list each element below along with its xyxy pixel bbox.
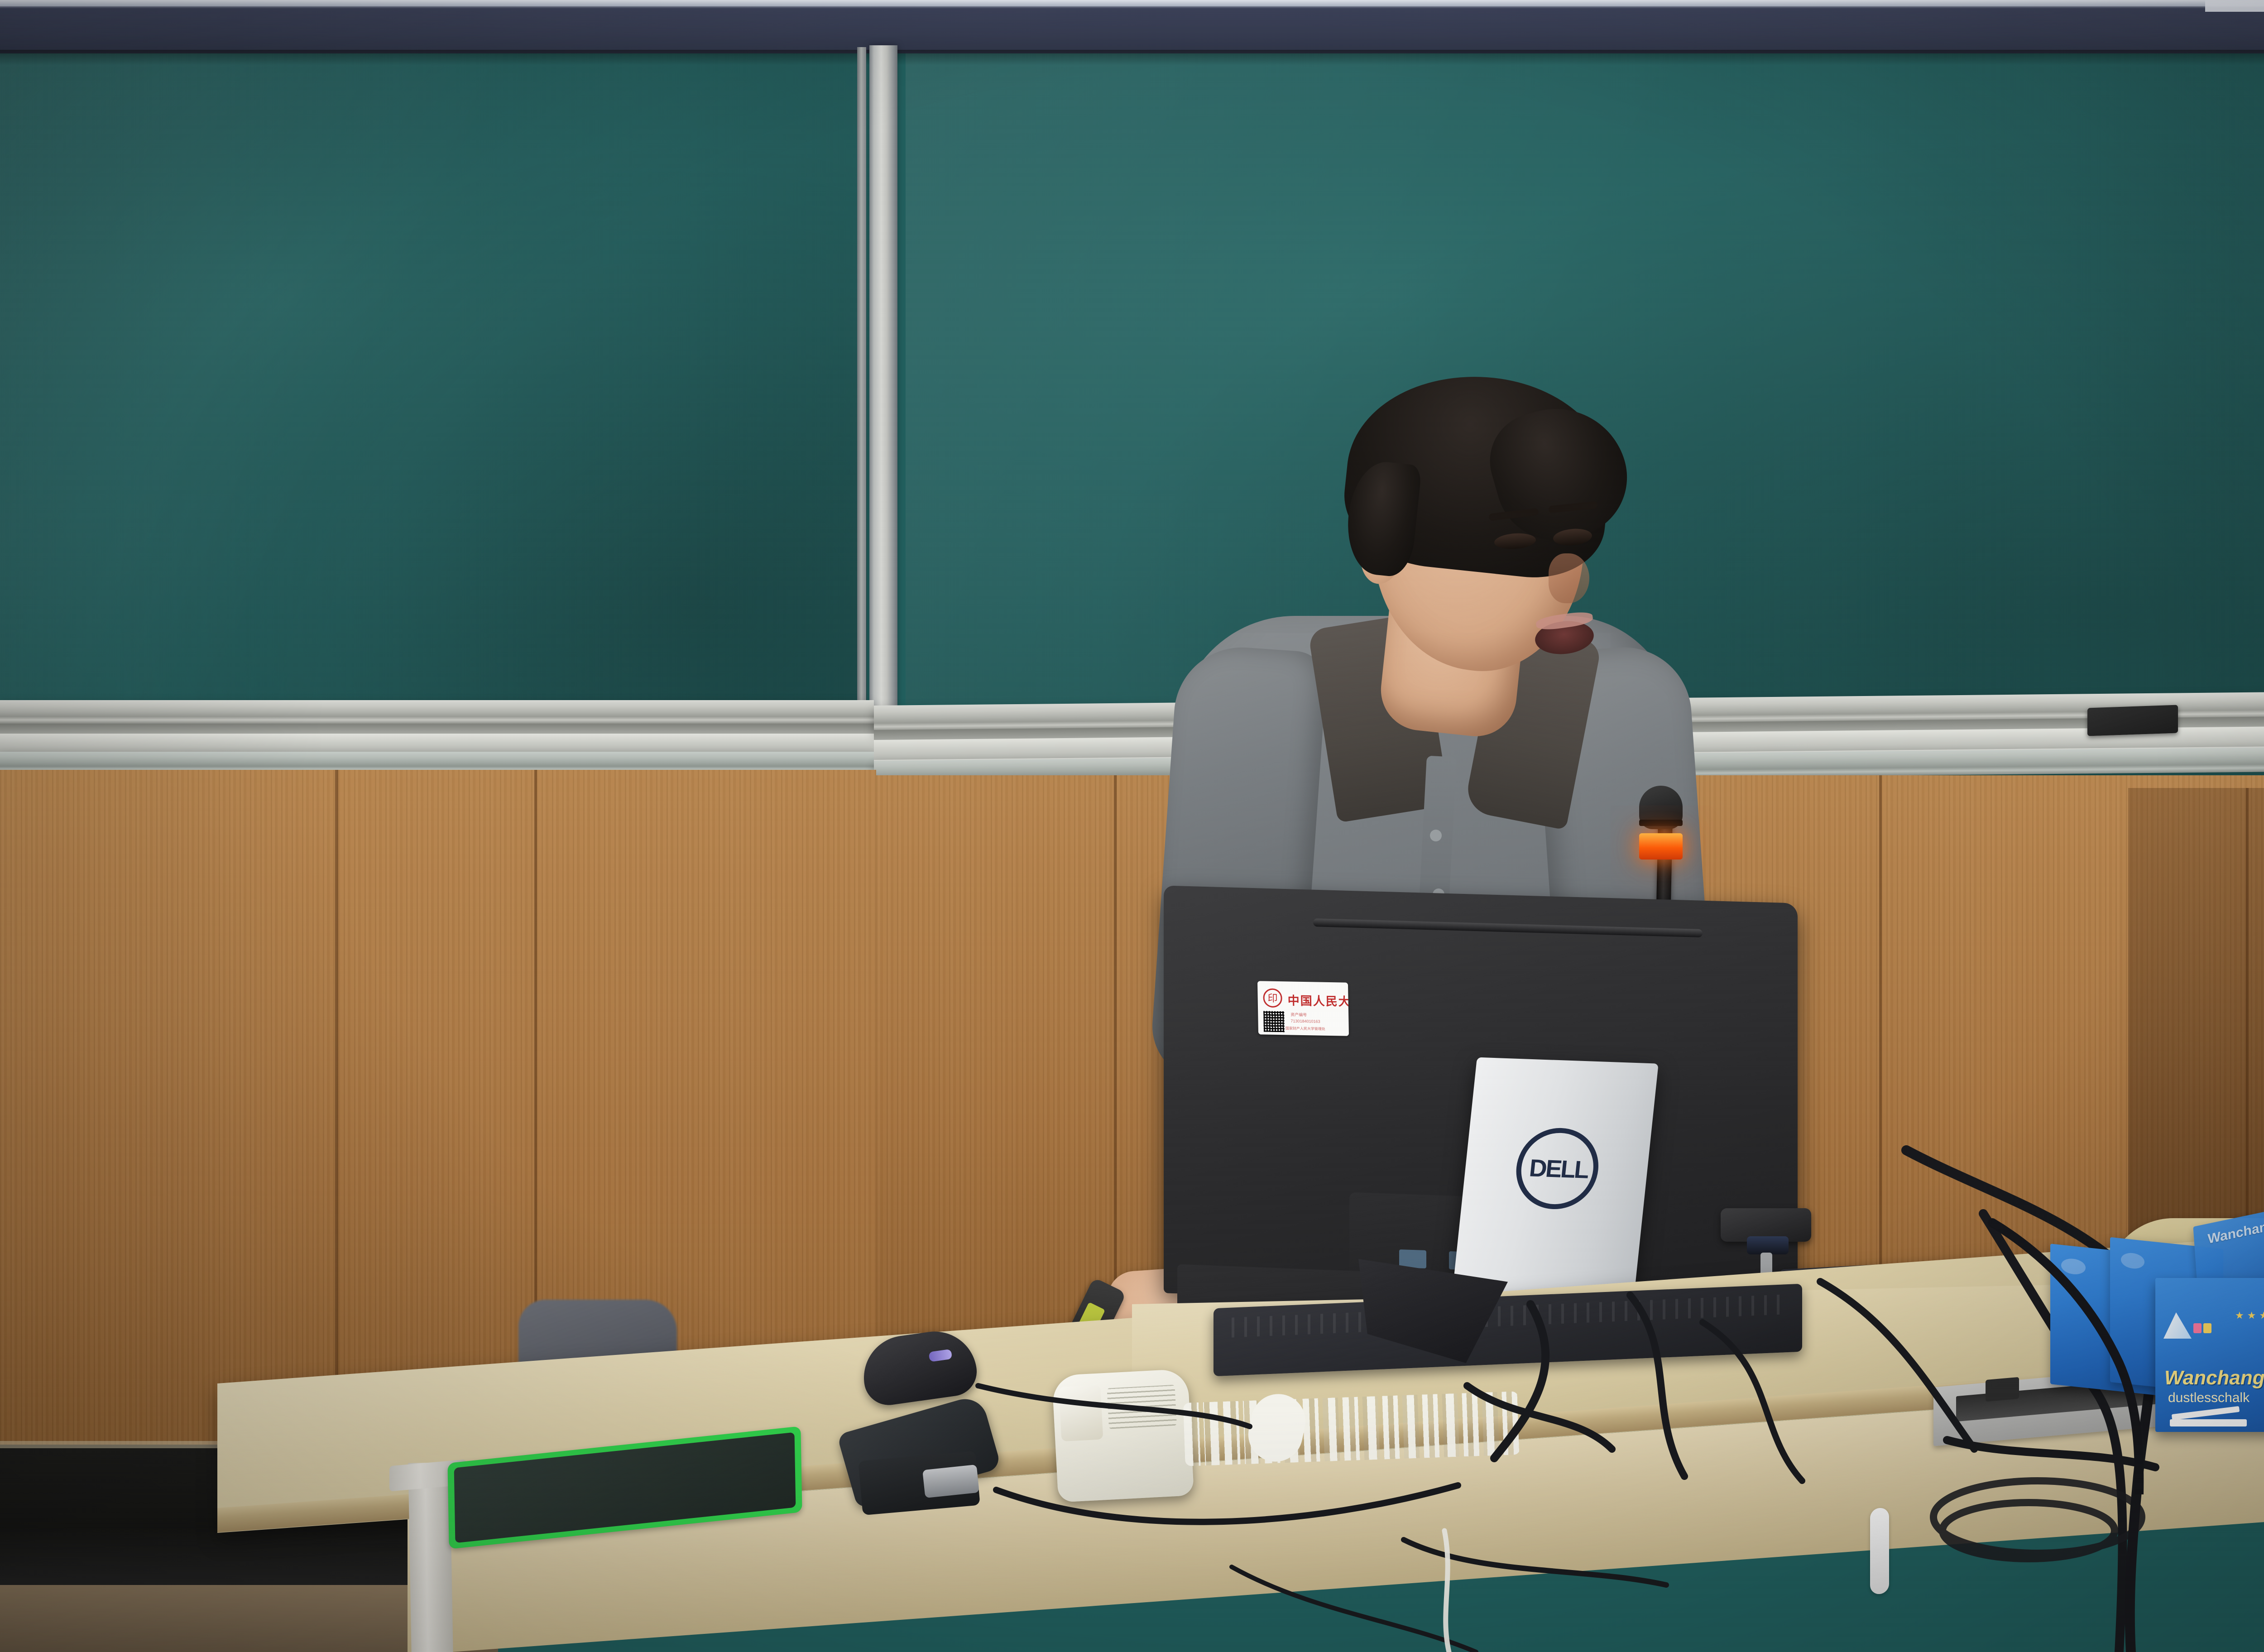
projection-screen-valance (0, 0, 2264, 53)
wood-seam-5 (1879, 775, 1882, 1296)
monitor-port-label-a (1399, 1249, 1426, 1268)
drawer-pull-1[interactable] (1870, 1508, 1889, 1595)
chalk-box-oval-mark (2121, 1252, 2144, 1269)
desk-telephone[interactable] (1052, 1369, 1194, 1502)
chalk-box-product-1: dustlesschalk (2168, 1390, 2250, 1406)
telephone-coiled-cord (1183, 1391, 1520, 1466)
lecture-hall-photo: 印 中国人民大学 资产编号 7130184010163 国家财产人民大学管理处 … (0, 0, 2264, 1652)
sticker-line-3: 国家财产人民大学管理处 (1285, 1026, 1325, 1032)
barcode-scanner-window-icon (922, 1465, 979, 1498)
microphone-status-light (1639, 833, 1683, 860)
microphone-ring-groove (1639, 820, 1683, 826)
chalk-tray-left (0, 700, 874, 724)
sticker-line-1: 资产编号 (1290, 1012, 1307, 1018)
valance-light-notch (2205, 0, 2264, 12)
board-sheen (906, 45, 2264, 704)
valance-top-strip (0, 0, 2264, 6)
chalk-tray-left-lip (0, 734, 874, 752)
asset-sticker: 印 中国人民大学 资产编号 7130184010163 国家财产人民大学管理处 (1257, 981, 1349, 1036)
chalk-box-oval-mark (2061, 1258, 2086, 1276)
grommet-brush-block-1 (1986, 1377, 2019, 1402)
valance-shadow (0, 50, 2264, 65)
chalk-box-front-1: ★★★ Wanchang dustlesschalk (2155, 1278, 2264, 1432)
webcam-lens-icon (1747, 1236, 1789, 1254)
telephone-keypad[interactable] (1107, 1385, 1177, 1429)
chalk-logo-block-b (2203, 1323, 2211, 1333)
chalkboard-panel-right (906, 45, 2264, 704)
chalk-box-flap-brand: Wanchang (2207, 1218, 2264, 1247)
wood-seam-3 (1114, 775, 1117, 1319)
university-seal-icon: 印 (1263, 988, 1282, 1008)
chalk-box-stars-1: ★★★ (2235, 1310, 2264, 1321)
mouse-led-icon (929, 1349, 953, 1362)
chalkboard-rail-center (869, 45, 897, 709)
wood-seam-1 (335, 770, 338, 1458)
qr-code-icon (1263, 1011, 1285, 1032)
chalk-stick-illustration-1 (2172, 1406, 2240, 1420)
presenter-nose (1549, 553, 1589, 603)
chalk-box-brand-1: Wanchang (2164, 1367, 2264, 1389)
chalk-stick-illustration-2 (2170, 1419, 2247, 1426)
chalkboard-panel-left (0, 53, 867, 701)
sticker-line-2: 7130184010163 (1290, 1019, 1320, 1024)
desk-leg-left (408, 1462, 453, 1652)
dell-logo-text: DELL (1523, 1154, 1594, 1184)
chalk-brand-logo-icon (2163, 1312, 2192, 1339)
telephone-handset[interactable] (1059, 1385, 1103, 1441)
sticker-university-name: 中国人民大学 (1287, 991, 1349, 1009)
chalkboard-rail-center-thin (857, 47, 866, 704)
chalk-tray-left-groove (0, 724, 874, 734)
board-eraser (2087, 705, 2178, 736)
board-sheen (0, 53, 867, 701)
shirt-button-1 (1430, 830, 1442, 841)
chalk-logo-block-a (2193, 1323, 2202, 1333)
